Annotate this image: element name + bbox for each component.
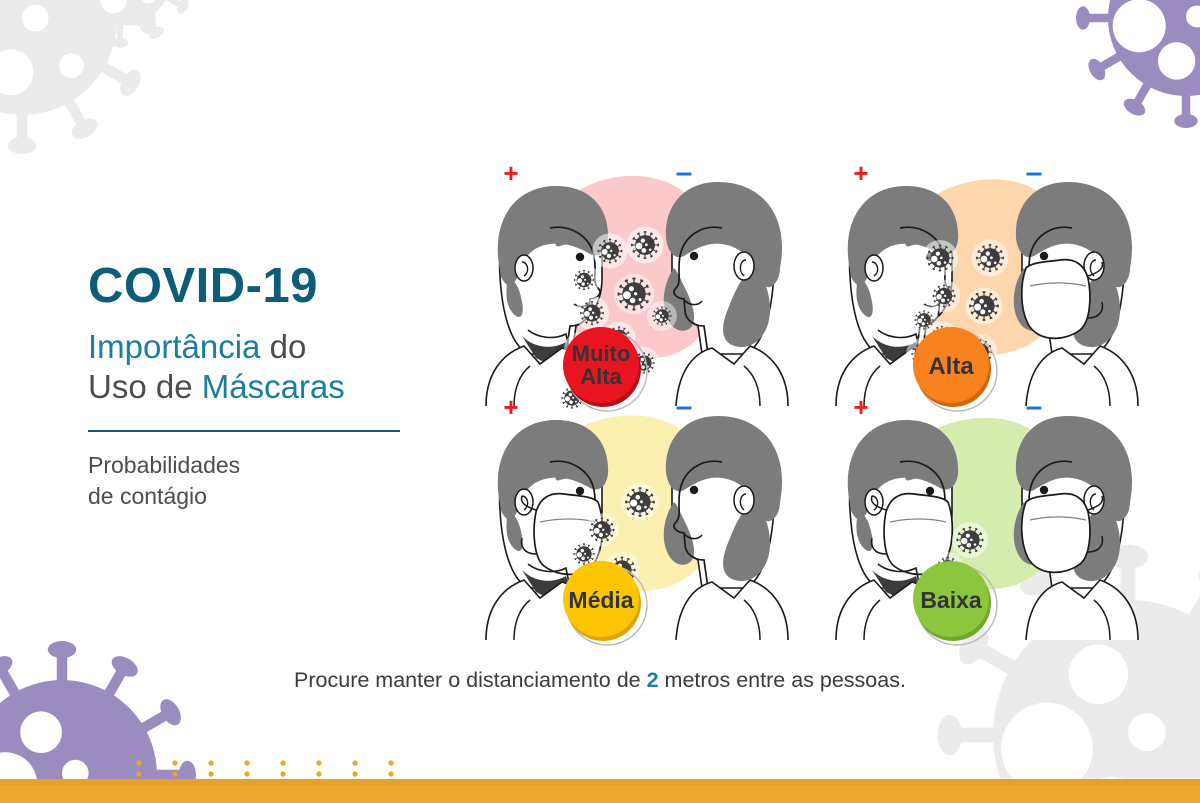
sign-positive: + <box>503 158 518 188</box>
person-right-masked <box>1014 416 1138 640</box>
sign-positive: + <box>853 392 868 422</box>
decor-virus-top-left-small <box>42 0 197 48</box>
title-note: Probabilidades de contágio <box>88 450 428 511</box>
panel-muito-alta: + – <box>462 158 812 406</box>
sign-negative: – <box>1026 156 1043 189</box>
note-line-2: de contágio <box>88 483 207 509</box>
distancing-text-after: metros entre as pessoas. <box>659 668 906 692</box>
infographic-canvas: COVID-19 Importância do Uso de Máscaras … <box>0 0 1200 803</box>
risk-badge-label-2: Alta <box>580 364 622 389</box>
sign-negative: – <box>676 156 693 189</box>
note-line-1: Probabilidades <box>88 452 240 478</box>
title-divider <box>88 430 400 433</box>
panel-media: + – <box>462 392 812 640</box>
distancing-text-before: Procure manter o distanciamento de <box>294 668 647 692</box>
subtitle-plain-1: do <box>260 328 306 365</box>
person-right-masked <box>1014 182 1138 406</box>
title-subtitle: Importância do Uso de Máscaras <box>88 327 428 408</box>
panel-baixa: + – <box>812 392 1162 640</box>
distancing-message: Procure manter o distanciamento de 2 met… <box>0 668 1200 693</box>
decor-virus-top-left <box>0 0 156 154</box>
sign-negative: – <box>1026 390 1043 423</box>
sign-negative: – <box>676 390 693 423</box>
panel-alta: + – <box>812 158 1162 406</box>
person-right-unmasked <box>664 416 788 640</box>
distancing-number: 2 <box>647 668 659 692</box>
subtitle-accent-1: Importância <box>88 328 260 365</box>
decor-dot-pattern <box>133 759 433 777</box>
sign-positive: + <box>853 158 868 188</box>
page-title: COVID-19 <box>88 262 428 311</box>
sign-positive: + <box>503 392 518 422</box>
risk-badge-label-1: Muito <box>572 341 631 366</box>
risk-badge-label-1: Alta <box>928 353 974 380</box>
risk-badge-label-1: Média <box>568 587 633 613</box>
risk-badge-label-1: Baixa <box>920 587 982 613</box>
subtitle-plain-2: Uso de <box>88 368 202 405</box>
person-right-unmasked <box>664 182 788 406</box>
title-block: COVID-19 Importância do Uso de Máscaras … <box>88 262 428 511</box>
decor-virus-top-right <box>1076 0 1200 128</box>
subtitle-accent-2: Máscaras <box>202 368 345 405</box>
bottom-accent-bar-edge <box>0 779 1200 785</box>
risk-panels: + – <box>462 158 1162 658</box>
